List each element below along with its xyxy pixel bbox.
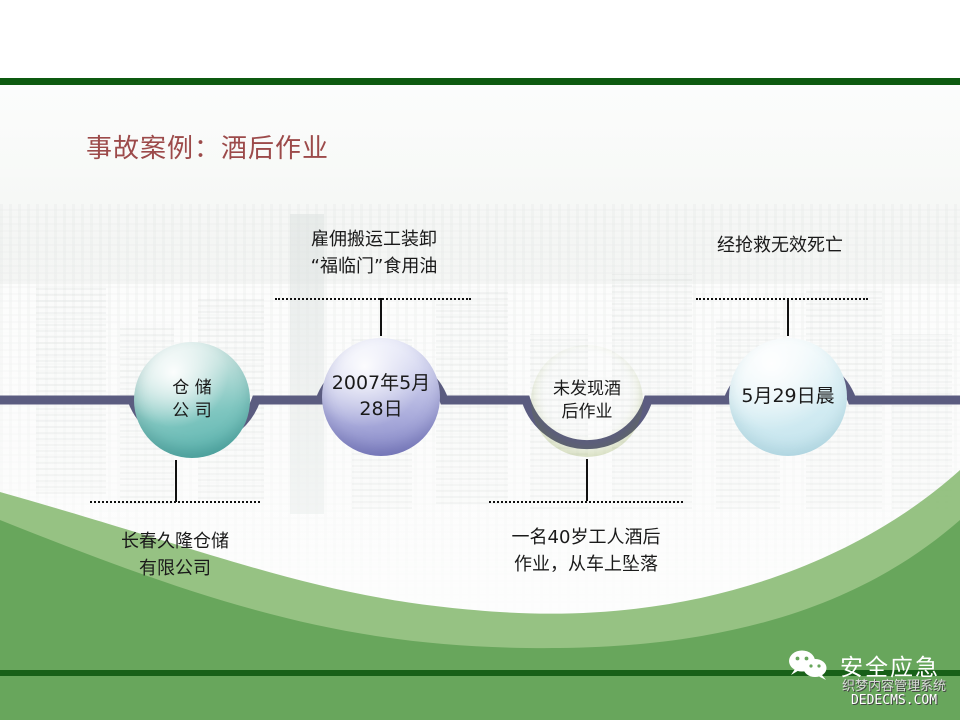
timeline-node-4-label: 5月29日晨 xyxy=(729,384,847,410)
timeline-node-3-label: 未发现酒 后作业 xyxy=(531,378,643,424)
callout-above-node-4: 经抢救无效死亡 xyxy=(692,232,868,259)
callout-below-node-3: 一名40岁工人酒后 作业，从车上坠落 xyxy=(483,524,689,578)
page-title: 事故案例：酒后作业 xyxy=(86,128,329,165)
callout-below-node-3-line2: 作业，从车上坠落 xyxy=(483,551,689,578)
wechat-label: 安全应急 xyxy=(840,648,940,682)
leader-stem-node-4 xyxy=(787,298,789,336)
watermark-en: DEDECMS.COM xyxy=(842,694,946,708)
timeline-node-1[interactable]: 仓 储 公 司 xyxy=(134,342,250,458)
timeline-node-2[interactable]: 2007年5月 28日 xyxy=(322,338,440,456)
callout-below-node-3-line1: 一名40岁工人酒后 xyxy=(483,524,689,551)
callout-above-node-2-line1: 雇佣搬运工装卸 xyxy=(279,226,469,253)
timeline-node-2-label: 2007年5月 28日 xyxy=(322,371,440,422)
watermark-cn: 织梦内容管理系统 xyxy=(842,680,946,694)
site-watermark: 织梦内容管理系统 DEDECMS.COM xyxy=(842,680,946,709)
callout-below-node-1: 长春久隆仓储 有限公司 xyxy=(85,528,265,582)
leader-dotline-node-1 xyxy=(90,501,260,503)
callout-above-node-2-line2: “福临门”食用油 xyxy=(279,253,469,280)
leader-stem-node-3 xyxy=(586,459,588,501)
wechat-icon xyxy=(786,649,830,681)
slide-canvas: 事故案例：酒后作业 仓 储 公 司 2007年5月 28日 未发现酒 后作业 5… xyxy=(0,0,960,720)
leader-stem-node-2 xyxy=(380,298,382,336)
leader-dotline-node-3 xyxy=(489,501,683,503)
callout-above-node-2: 雇佣搬运工装卸 “福临门”食用油 xyxy=(279,226,469,280)
timeline-node-4[interactable]: 5月29日晨 xyxy=(729,338,847,456)
leader-stem-node-1 xyxy=(175,460,177,502)
timeline-node-3[interactable]: 未发现酒 后作业 xyxy=(531,345,643,457)
top-green-rule xyxy=(0,78,960,85)
timeline-node-1-label: 仓 储 公 司 xyxy=(134,377,250,423)
wechat-badge: 安全应急 xyxy=(786,648,940,682)
callout-below-node-1-line2: 有限公司 xyxy=(85,555,265,582)
callout-above-node-4-line1: 经抢救无效死亡 xyxy=(692,232,868,259)
leader-dotline-node-2 xyxy=(275,298,471,300)
leader-dotline-node-4 xyxy=(696,298,868,300)
callout-below-node-1-line1: 长春久隆仓储 xyxy=(85,528,265,555)
